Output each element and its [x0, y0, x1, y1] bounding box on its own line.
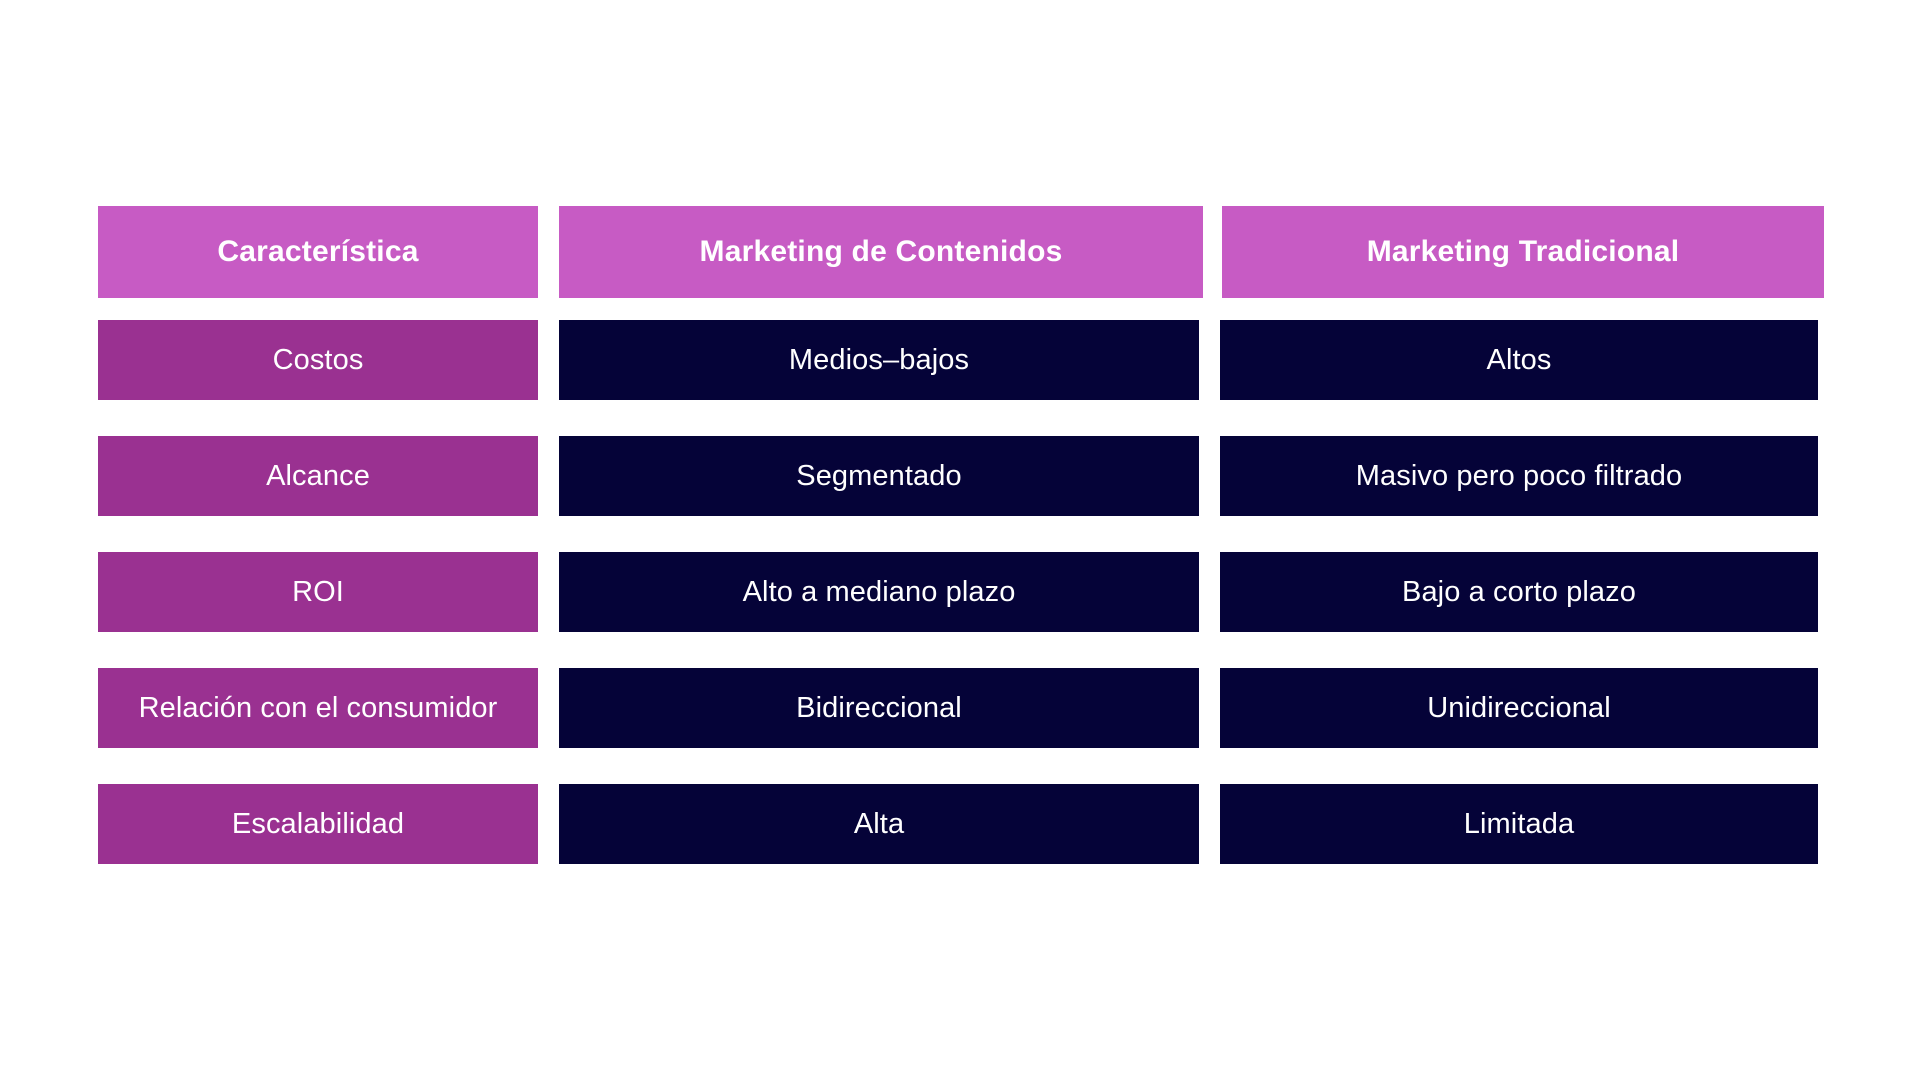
column-gap: [1203, 206, 1222, 298]
row-label-cell: Relación con el consumidor: [98, 668, 538, 748]
cell-content-marketing: Segmentado: [559, 436, 1199, 516]
cell-content-marketing: Alta: [559, 784, 1199, 864]
column-gap: [538, 206, 559, 298]
table-row: Costos Medios–bajos Altos: [98, 320, 1824, 400]
column-gap: [1199, 668, 1218, 748]
column-header-feature: Característica: [98, 206, 538, 298]
table-header-row: Característica Marketing de Contenidos M…: [98, 206, 1824, 298]
column-gap: [538, 320, 557, 400]
cell-content-marketing: Alto a mediano plazo: [559, 552, 1199, 632]
cell-traditional-marketing: Altos: [1220, 320, 1818, 400]
cell-traditional-marketing: Limitada: [1220, 784, 1818, 864]
row-label-cell: Alcance: [98, 436, 538, 516]
column-gap: [1199, 784, 1218, 864]
row-label-cell: Costos: [98, 320, 538, 400]
column-gap: [1199, 320, 1218, 400]
column-gap: [538, 552, 557, 632]
table-row: ROI Alto a mediano plazo Bajo a corto pl…: [98, 552, 1824, 632]
slide-canvas: Característica Marketing de Contenidos M…: [0, 0, 1920, 1080]
cell-content-marketing: Medios–bajos: [559, 320, 1199, 400]
row-label-cell: ROI: [98, 552, 538, 632]
cell-content-marketing: Bidireccional: [559, 668, 1199, 748]
table-row: Alcance Segmentado Masivo pero poco filt…: [98, 436, 1824, 516]
column-header-traditional-marketing: Marketing Tradicional: [1222, 206, 1824, 298]
column-gap: [1199, 436, 1218, 516]
table-row: Escalabilidad Alta Limitada: [98, 784, 1824, 864]
cell-traditional-marketing: Bajo a corto plazo: [1220, 552, 1818, 632]
cell-traditional-marketing: Unidireccional: [1220, 668, 1818, 748]
row-label-cell: Escalabilidad: [98, 784, 538, 864]
column-gap: [1199, 552, 1218, 632]
column-gap: [538, 436, 557, 516]
column-header-content-marketing: Marketing de Contenidos: [559, 206, 1203, 298]
column-gap: [538, 668, 557, 748]
column-gap: [538, 784, 557, 864]
comparison-table: Característica Marketing de Contenidos M…: [98, 206, 1824, 864]
cell-traditional-marketing: Masivo pero poco filtrado: [1220, 436, 1818, 516]
table-row: Relación con el consumidor Bidireccional…: [98, 668, 1824, 748]
